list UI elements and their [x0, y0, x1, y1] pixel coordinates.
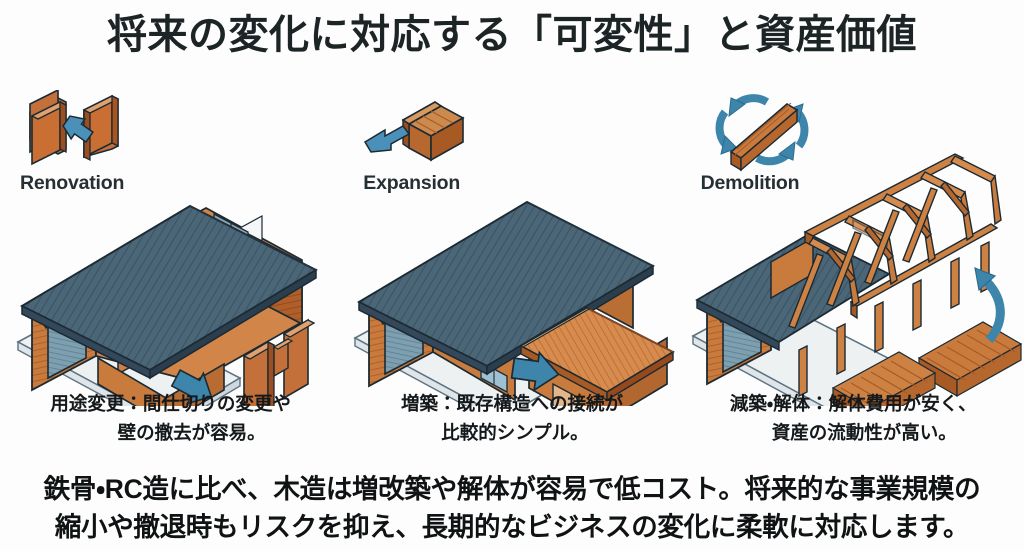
summary-line1: 鉄骨・RC造に比べ、木造は増改築や解体が容易で低コスト。将来的な事業規模の — [0, 470, 1024, 508]
summary-text: 鉄骨・RC造に比べ、木造は増改築や解体が容易で低コスト。将来的な事業規模の 縮小… — [0, 470, 1024, 546]
caption-row: 用途変更：間仕切りの変更や 壁の撤去が容易。 増築：既存構造への接続が 比較的シ… — [0, 390, 1024, 447]
illustration-renovation-building — [0, 106, 341, 406]
page-title: 将来の変化に対応する「可変性」と資産価値 — [0, 12, 1024, 59]
caption-renovation-line2: 壁の撤去が容易。 — [0, 419, 341, 448]
caption-expansion-line1: 増築：既存構造への接続が — [401, 393, 623, 414]
caption-renovation-line1: 用途変更：間仕切りの変更や — [50, 393, 291, 414]
illustration-demolition-frame — [683, 106, 1024, 406]
caption-expansion-line2: 比較的シンプル。 — [341, 419, 682, 448]
summary-line2: 縮小や撤退時もリスクを抑え、長期的なビジネスの変化に柔軟に対応します。 — [0, 508, 1024, 546]
caption-expansion: 増築：既存構造への接続が 比較的シンプル。 — [341, 390, 682, 447]
caption-demolition-line2: 資産の流動性が高い。 — [683, 419, 1024, 448]
caption-demolition: 減築・解体：解体費用が安く、 資産の流動性が高い。 — [683, 390, 1024, 447]
illustration-expansion-building — [341, 106, 682, 406]
infographic-page: 将来の変化に対応する「可変性」と資産価値 Reno — [0, 0, 1024, 551]
caption-demolition-line1: 減築・解体：解体費用が安く、 — [730, 393, 977, 414]
caption-renovation: 用途変更：間仕切りの変更や 壁の撤去が容易。 — [0, 390, 341, 447]
